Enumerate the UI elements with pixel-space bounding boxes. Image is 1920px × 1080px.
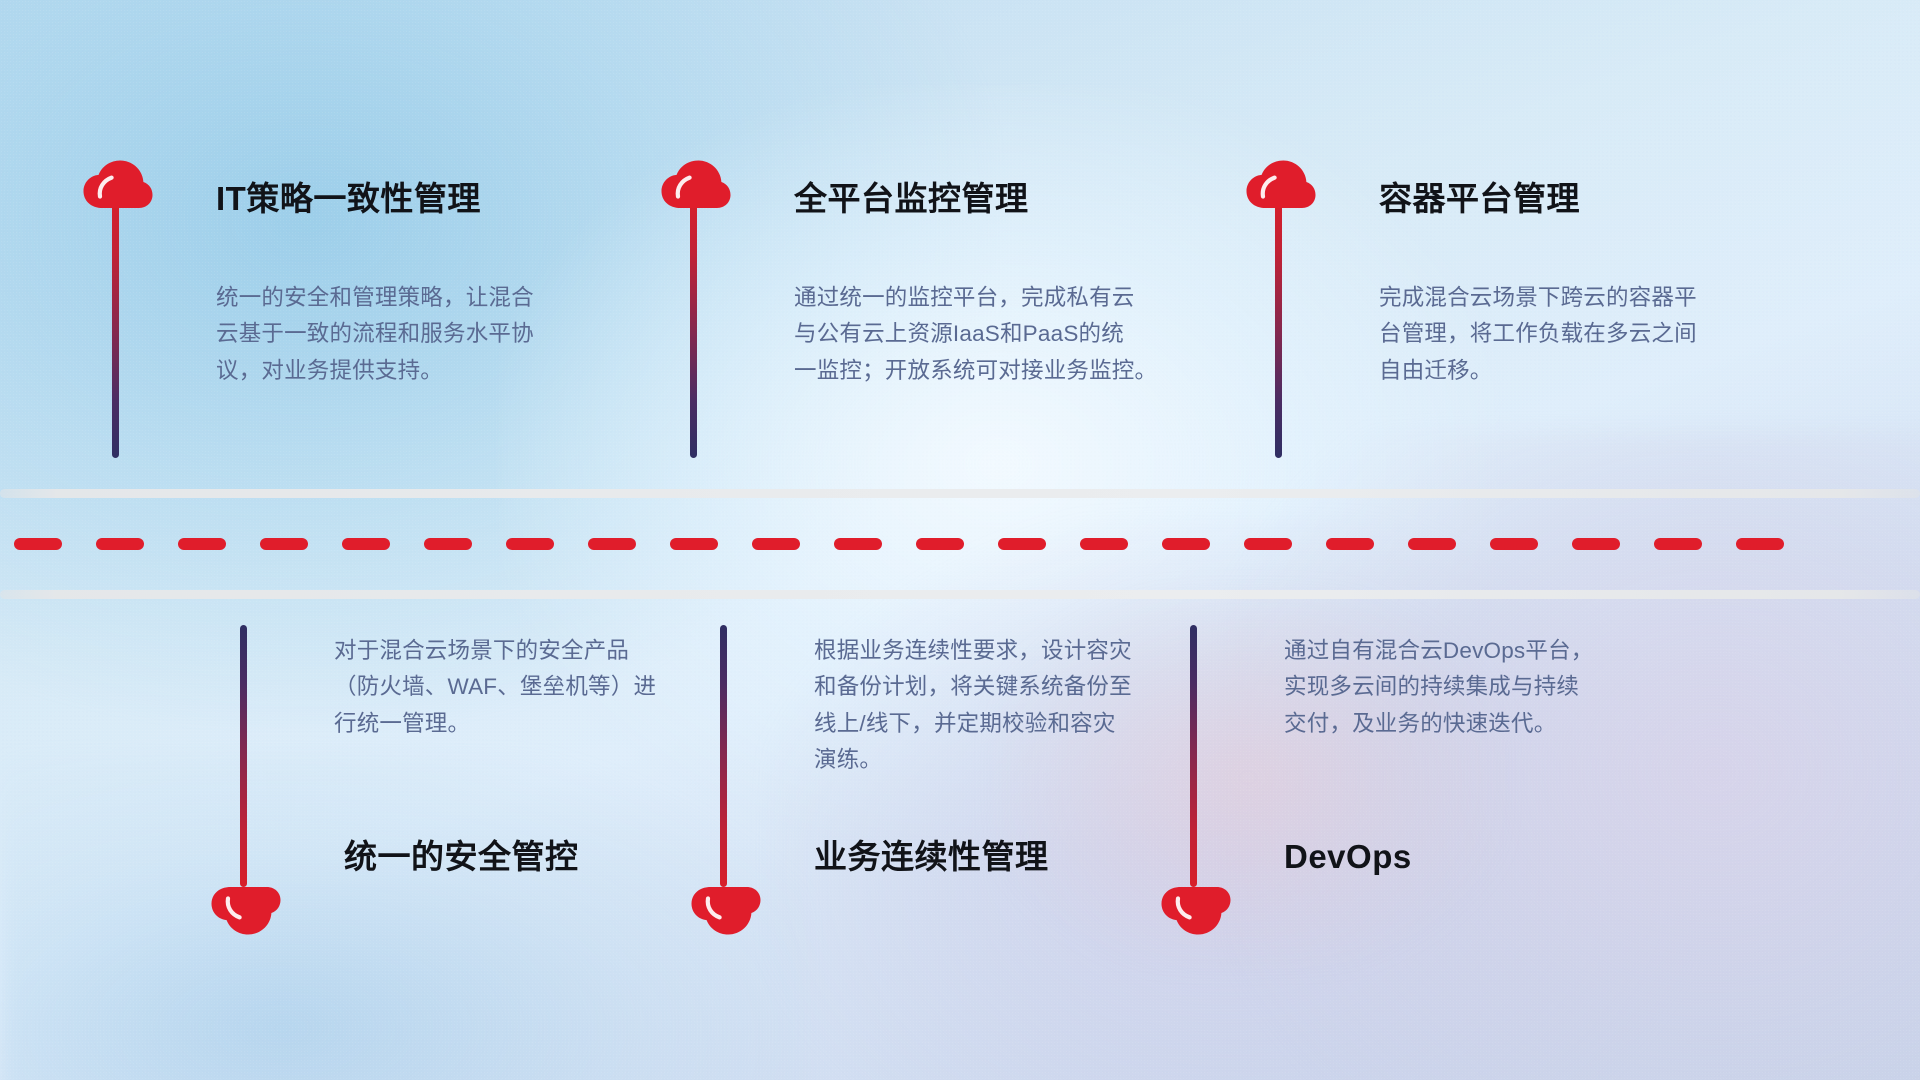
road-divider (0, 489, 1920, 599)
road-dash (1162, 538, 1210, 550)
road-dash (998, 538, 1046, 550)
road-dash (14, 538, 62, 550)
road-dash (1244, 538, 1292, 550)
card-description: 完成混合云场景下跨云的容器平 台管理，将工作负载在多云之间 自由迁移。 (1379, 280, 1799, 389)
card-heading: IT策略一致性管理 (216, 182, 481, 215)
text-block-full-platform-monitoring: 全平台监控管理 通过统一的监控平台，完成私有云 与公有云上资源IaaS和PaaS… (732, 160, 1160, 460)
card-business-continuity[interactable]: 根据业务连续性要求，设计容灾 和备份计划，将关键系统备份至 线上/线下，并定期校… (690, 625, 1190, 945)
stem-line (1275, 198, 1282, 458)
road-dash (1572, 538, 1620, 550)
road-dash (670, 538, 718, 550)
road-dash (916, 538, 964, 550)
pin-unified-security-control (210, 625, 282, 945)
card-heading: 容器平台管理 (1379, 182, 1580, 215)
stem-line (720, 625, 727, 887)
cloud-pin-icon (210, 883, 282, 935)
card-it-policy-consistency[interactable]: IT策略一致性管理 统一的安全和管理策略，让混合 云基于一致的流程和服务水平协 … (82, 160, 552, 460)
stem-line (240, 625, 247, 887)
cloud-pin-icon (660, 160, 732, 212)
road-dash (424, 538, 472, 550)
road-dash (1080, 538, 1128, 550)
road-dash (506, 538, 554, 550)
road-dash (1654, 538, 1702, 550)
cloud-pin-icon (690, 883, 762, 935)
road-dash (342, 538, 390, 550)
road-dash (96, 538, 144, 550)
road-dashed-center-line (0, 538, 1920, 550)
pin-business-continuity (690, 625, 762, 945)
infographic-canvas: IT策略一致性管理 统一的安全和管理策略，让混合 云基于一致的流程和服务水平协 … (0, 0, 1920, 1080)
road-dash (1408, 538, 1456, 550)
stem-line (690, 198, 697, 458)
card-heading: 全平台监控管理 (794, 182, 1029, 215)
text-block-unified-security-control: 对于混合云场景下的安全产品 （防火墙、WAF、堡垒机等）进 行统一管理。 统一的… (282, 625, 710, 945)
cloud-pin-icon (82, 160, 154, 212)
text-block-container-platform: 容器平台管理 完成混合云场景下跨云的容器平 台管理，将工作负载在多云之间 自由迁… (1317, 160, 1745, 460)
card-heading: 统一的安全管控 (344, 840, 579, 873)
road-dash (1736, 538, 1784, 550)
card-heading: 业务连续性管理 (814, 840, 1049, 873)
text-block-business-continuity: 根据业务连续性要求，设计容灾 和备份计划，将关键系统备份至 线上/线下，并定期校… (762, 625, 1190, 945)
road-dash (1326, 538, 1374, 550)
text-block-devops: 通过自有混合云DevOps平台， 实现多云间的持续集成与持续 交付，及业务的快速… (1232, 625, 1660, 945)
card-devops[interactable]: 通过自有混合云DevOps平台， 实现多云间的持续集成与持续 交付，及业务的快速… (1160, 625, 1660, 945)
road-dash (834, 538, 882, 550)
pin-full-platform-monitoring (660, 160, 732, 460)
pin-container-platform (1245, 160, 1317, 460)
road-dash (588, 538, 636, 550)
card-description: 通过自有混合云DevOps平台， 实现多云间的持续集成与持续 交付，及业务的快速… (1284, 633, 1704, 742)
cloud-pin-icon (1160, 883, 1232, 935)
text-block-it-policy-consistency: IT策略一致性管理 统一的安全和管理策略，让混合 云基于一致的流程和服务水平协 … (154, 160, 552, 460)
card-unified-security-control[interactable]: 对于混合云场景下的安全产品 （防火墙、WAF、堡垒机等）进 行统一管理。 统一的… (210, 625, 710, 945)
pin-it-policy-consistency (82, 160, 154, 460)
cloud-pin-icon (1245, 160, 1317, 212)
card-full-platform-monitoring[interactable]: 全平台监控管理 通过统一的监控平台，完成私有云 与公有云上资源IaaS和PaaS… (660, 160, 1160, 460)
card-container-platform[interactable]: 容器平台管理 完成混合云场景下跨云的容器平 台管理，将工作负载在多云之间 自由迁… (1245, 160, 1745, 460)
road-line-bottom (0, 590, 1920, 599)
card-heading: DevOps (1284, 840, 1412, 873)
pin-devops (1160, 625, 1232, 945)
road-dash (1490, 538, 1538, 550)
stem-line (112, 198, 119, 458)
road-line-top (0, 489, 1920, 498)
card-description: 通过统一的监控平台，完成私有云 与公有云上资源IaaS和PaaS的统 一监控；开… (794, 280, 1214, 389)
card-description: 统一的安全和管理策略，让混合 云基于一致的流程和服务水平协 议，对业务提供支持。 (216, 280, 616, 389)
road-dash (260, 538, 308, 550)
road-dash (178, 538, 226, 550)
road-dash (752, 538, 800, 550)
stem-line (1190, 625, 1197, 887)
